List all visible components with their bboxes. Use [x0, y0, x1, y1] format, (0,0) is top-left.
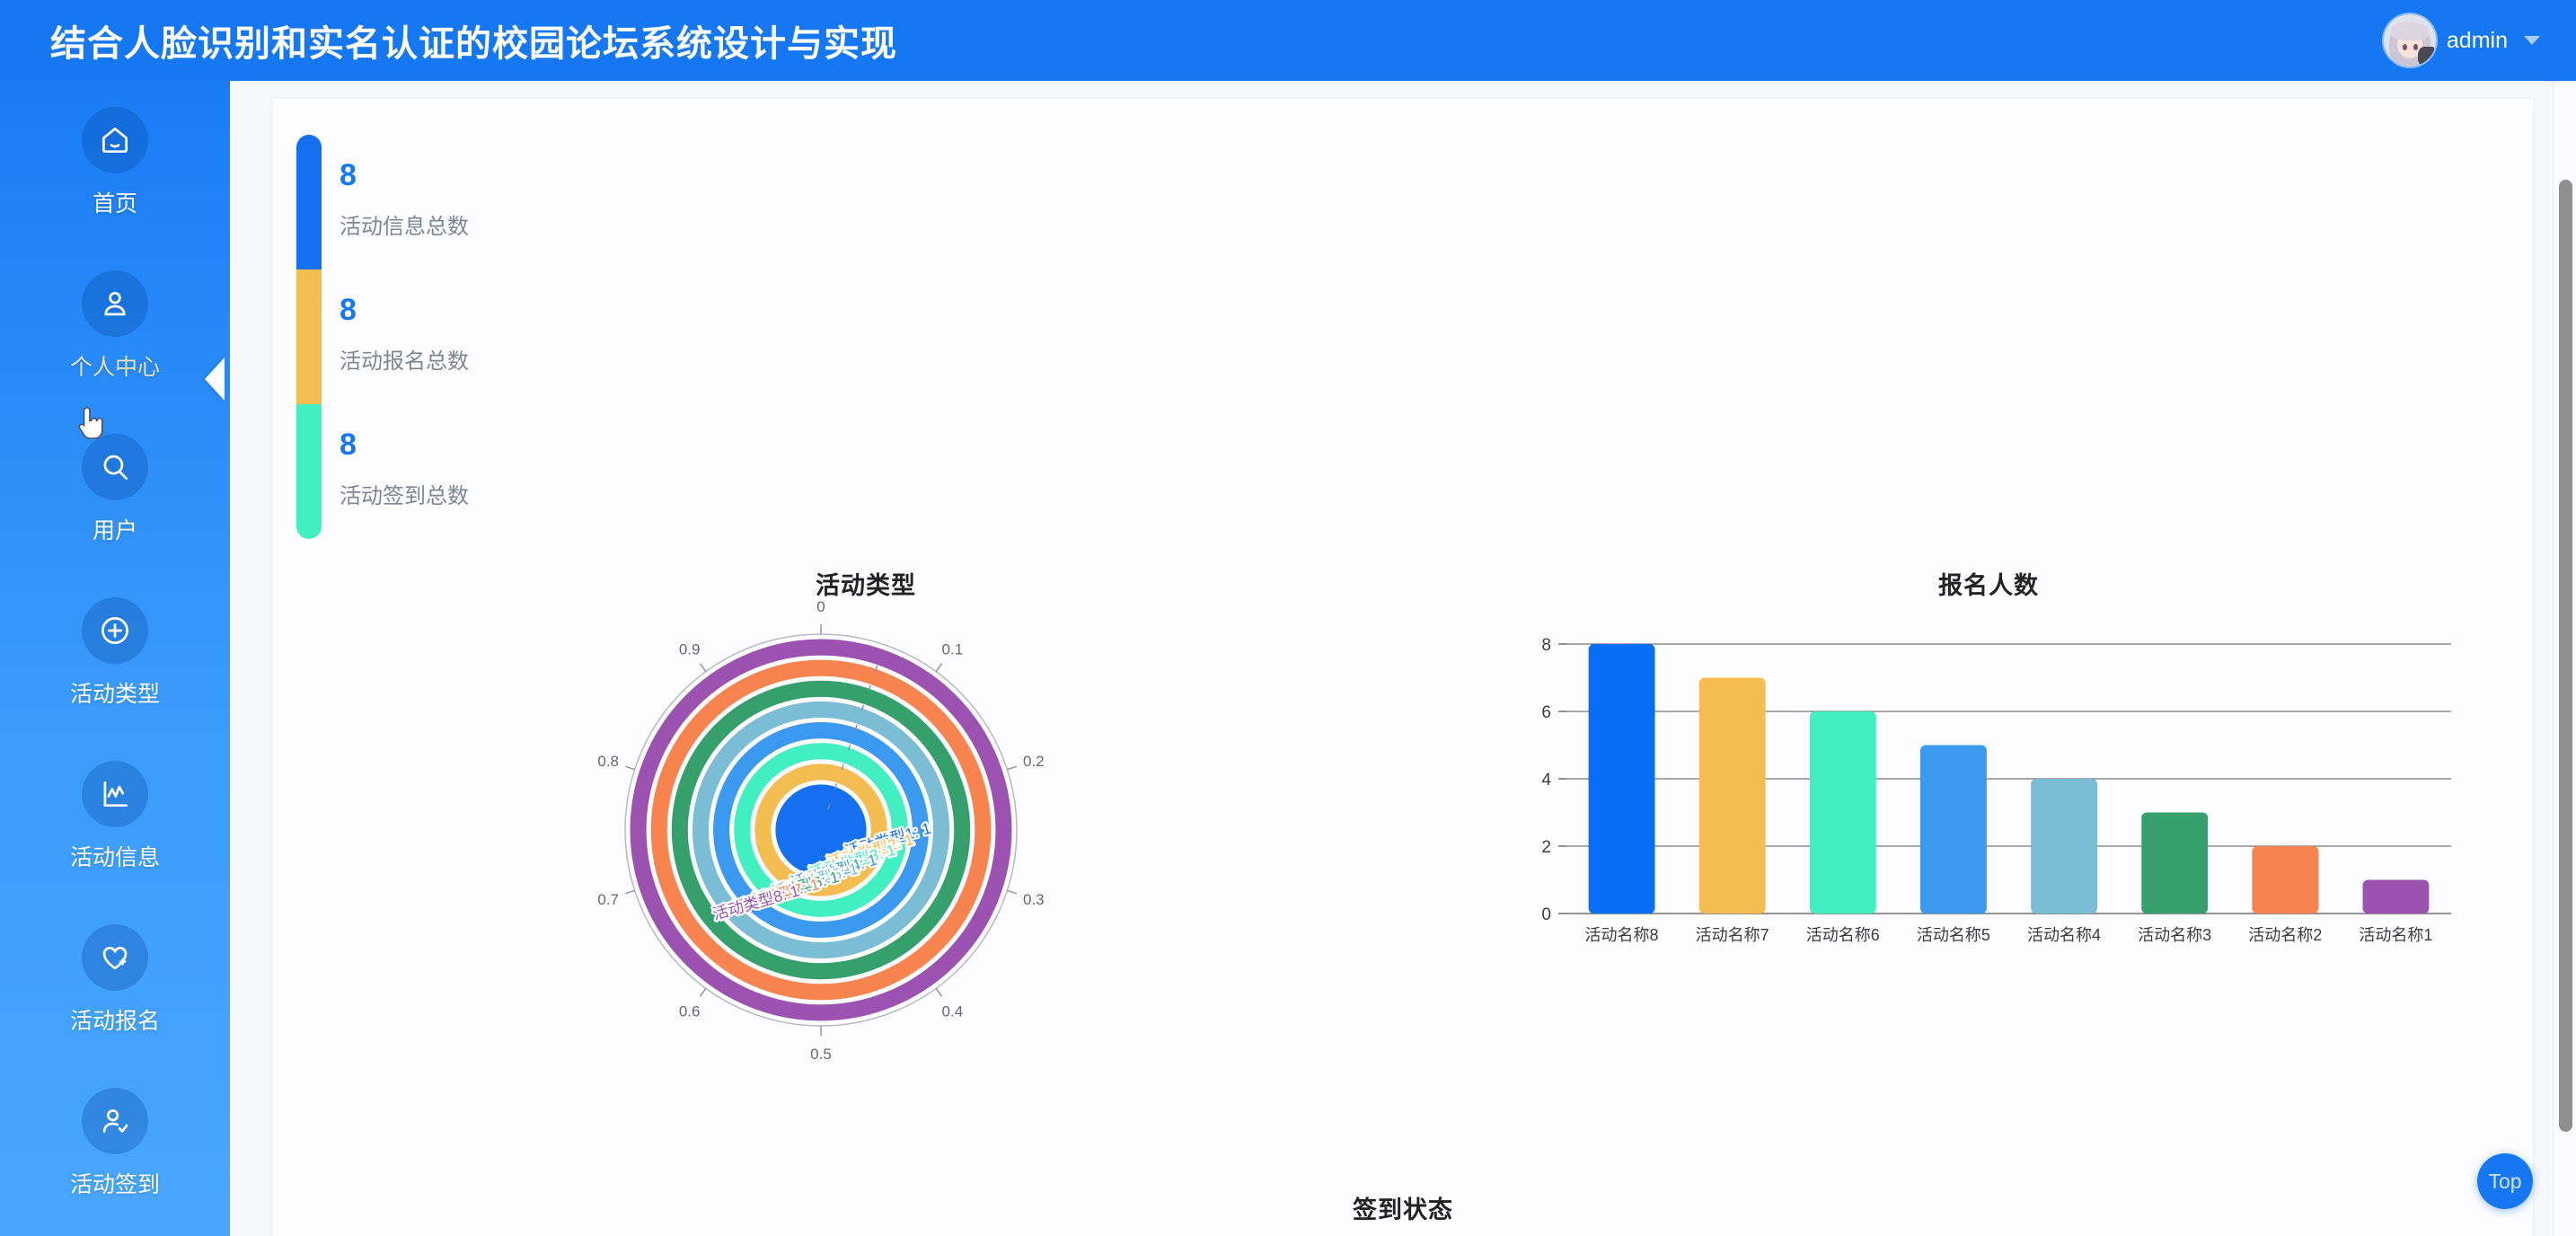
polar-chart-plot[interactable]: 00.10.20.30.40.50.60.70.80.9活动类型1: 1活动类型…: [543, 601, 1189, 1059]
section-title-checkin-status: 签到状态: [273, 1190, 2533, 1225]
dashboard-card: 8 活动信息总数 8 活动报名总数 8 活动签到总数 活动类型 00: [273, 99, 2533, 1236]
username-label: admin: [2447, 28, 2508, 54]
stat-value: 8: [340, 269, 913, 325]
bar-chart-plot[interactable]: 02468活动名称8活动名称7活动名称6活动名称5活动名称4活动名称3活动名称2…: [1513, 601, 2465, 1059]
stat-value: 8: [340, 135, 913, 190]
stat-cards: 8 活动信息总数 8 活动报名总数 8 活动签到总数: [284, 135, 913, 539]
heart-plus-icon: [82, 924, 148, 991]
scrollbar[interactable]: [2553, 81, 2576, 1236]
angular-tick: [936, 664, 941, 672]
sidebar-item-label: 活动类型: [70, 676, 160, 709]
main-content: 8 活动信息总数 8 活动报名总数 8 活动签到总数 活动类型 00: [230, 81, 2576, 1236]
angular-tick: [700, 664, 705, 672]
plus-circle-icon: [82, 597, 148, 664]
stat-color-bar: [296, 135, 322, 269]
avatar-bangs: [2391, 22, 2429, 40]
angular-tick-label: 0.3: [1023, 891, 1045, 908]
sidebar-item-users[interactable]: 用户: [0, 408, 230, 571]
x-tick-label: 活动名称5: [1917, 926, 1990, 944]
chart-signup-count: 报名人数 02468活动名称8活动名称7活动名称6活动名称5活动名称4活动名称3…: [1513, 566, 2465, 1087]
polar-chart-svg[interactable]: 00.10.20.30.40.50.60.70.80.9活动类型1: 1活动类型…: [543, 601, 1189, 1059]
stat-label: 活动报名总数: [340, 343, 913, 375]
angular-tick: [1007, 890, 1016, 893]
stat-card-activity-signup[interactable]: 8 活动报名总数: [284, 269, 913, 404]
angular-tick-label: 0.8: [597, 753, 619, 770]
x-tick-label: 活动名称4: [2027, 926, 2101, 944]
angular-tick: [625, 766, 634, 769]
stat-label: 活动信息总数: [340, 208, 913, 240]
header-user-menu[interactable]: admin: [2384, 0, 2540, 81]
angular-tick: [936, 988, 941, 996]
sidebar-item-label: 活动信息: [70, 840, 160, 872]
angular-tick-label: 0.7: [597, 891, 619, 908]
stat-card-activity-info[interactable]: 8 活动信息总数: [284, 135, 913, 269]
chart-title: 报名人数: [1513, 566, 2465, 601]
avatar-eye-right: [2413, 44, 2418, 50]
bar[interactable]: [2252, 846, 2318, 914]
chart-title: 活动类型: [543, 566, 1189, 601]
chevron-down-icon[interactable]: [2524, 36, 2540, 45]
y-tick-label: 6: [1541, 703, 1551, 722]
sidebar-item-label: 活动报名: [70, 1003, 160, 1036]
stat-color-bar: [296, 269, 322, 404]
sidebar-item-label: 首页: [93, 186, 137, 218]
bar[interactable]: [1699, 678, 1766, 914]
angular-tick-label: 0.1: [942, 641, 964, 658]
app-header: 结合人脸识别和实名认证的校园论坛系统设计与实现 admin: [0, 0, 2576, 81]
x-tick-label: 活动名称2: [2248, 926, 2322, 944]
bar[interactable]: [1589, 644, 1655, 914]
scrollbar-thumb[interactable]: [2559, 180, 2572, 1132]
bar[interactable]: [1810, 711, 1876, 914]
stat-color-bar: [296, 404, 322, 539]
page-title: 结合人脸识别和实名认证的校园论坛系统设计与实现: [50, 14, 897, 66]
avatar-clothing: [2418, 47, 2434, 66]
sidebar-item-label: 活动签到: [70, 1167, 160, 1199]
avatar-eye-left: [2403, 44, 2407, 50]
sidebar-item-label: 个人中心: [70, 349, 160, 382]
sidebar: 首页 个人中心 用户: [0, 81, 230, 1236]
angular-tick-label: 0.9: [679, 641, 701, 658]
sidebar-item-activity-info[interactable]: 活动信息: [0, 735, 230, 898]
angular-tick-label: 0: [816, 601, 825, 615]
sidebar-item-activity-type[interactable]: 活动类型: [0, 571, 230, 735]
bar[interactable]: [2031, 779, 2097, 914]
home-icon: [82, 107, 148, 173]
app-root: 结合人脸识别和实名认证的校园论坛系统设计与实现 admin 首页: [0, 0, 2576, 1236]
y-tick-label: 2: [1541, 838, 1551, 857]
collapse-left-arrow-icon[interactable]: [205, 358, 225, 401]
stat-value: 8: [340, 404, 913, 460]
sidebar-item-profile[interactable]: 个人中心: [0, 244, 230, 408]
stat-label: 活动签到总数: [340, 478, 913, 509]
bar[interactable]: [2363, 880, 2430, 914]
y-tick-label: 0: [1541, 905, 1551, 924]
bar[interactable]: [2141, 813, 2208, 914]
search-icon: [82, 434, 148, 500]
x-tick-label: 活动名称8: [1585, 926, 1659, 944]
angular-tick-label: 0.2: [1023, 753, 1045, 770]
angular-tick: [625, 890, 634, 893]
user-icon: [82, 270, 148, 337]
angular-tick-label: 0.5: [810, 1046, 832, 1059]
y-tick-label: 8: [1541, 636, 1551, 655]
back-to-top-button[interactable]: Top: [2477, 1153, 2533, 1209]
sidebar-item-activity-checkin[interactable]: 活动签到: [0, 1062, 230, 1225]
angular-tick: [1007, 766, 1016, 769]
angular-tick: [700, 988, 705, 996]
chart-line-icon: [82, 761, 148, 827]
bar[interactable]: [1920, 746, 1987, 914]
x-tick-label: 活动名称7: [1696, 926, 1769, 944]
y-tick-label: 4: [1541, 771, 1551, 790]
bar-chart-svg[interactable]: 02468活动名称8活动名称7活动名称6活动名称5活动名称4活动名称3活动名称2…: [1513, 601, 2465, 1059]
angular-tick-label: 0.6: [679, 1002, 701, 1020]
x-tick-label: 活动名称6: [1806, 926, 1880, 944]
user-check-icon: [82, 1088, 148, 1154]
avatar[interactable]: [2384, 14, 2436, 66]
angular-tick-label: 0.4: [942, 1002, 964, 1020]
sidebar-item-home[interactable]: 首页: [0, 81, 230, 244]
sidebar-item-label: 用户: [93, 513, 137, 545]
sidebar-item-activity-signup[interactable]: 活动报名: [0, 898, 230, 1062]
stat-card-activity-checkin[interactable]: 8 活动签到总数: [284, 404, 913, 539]
x-tick-label: 活动名称1: [2359, 926, 2432, 944]
x-tick-label: 活动名称3: [2138, 926, 2211, 944]
chart-activity-type: 活动类型 00.10.20.30.40.50.60.70.80.9活动类型1: …: [543, 566, 1189, 1087]
